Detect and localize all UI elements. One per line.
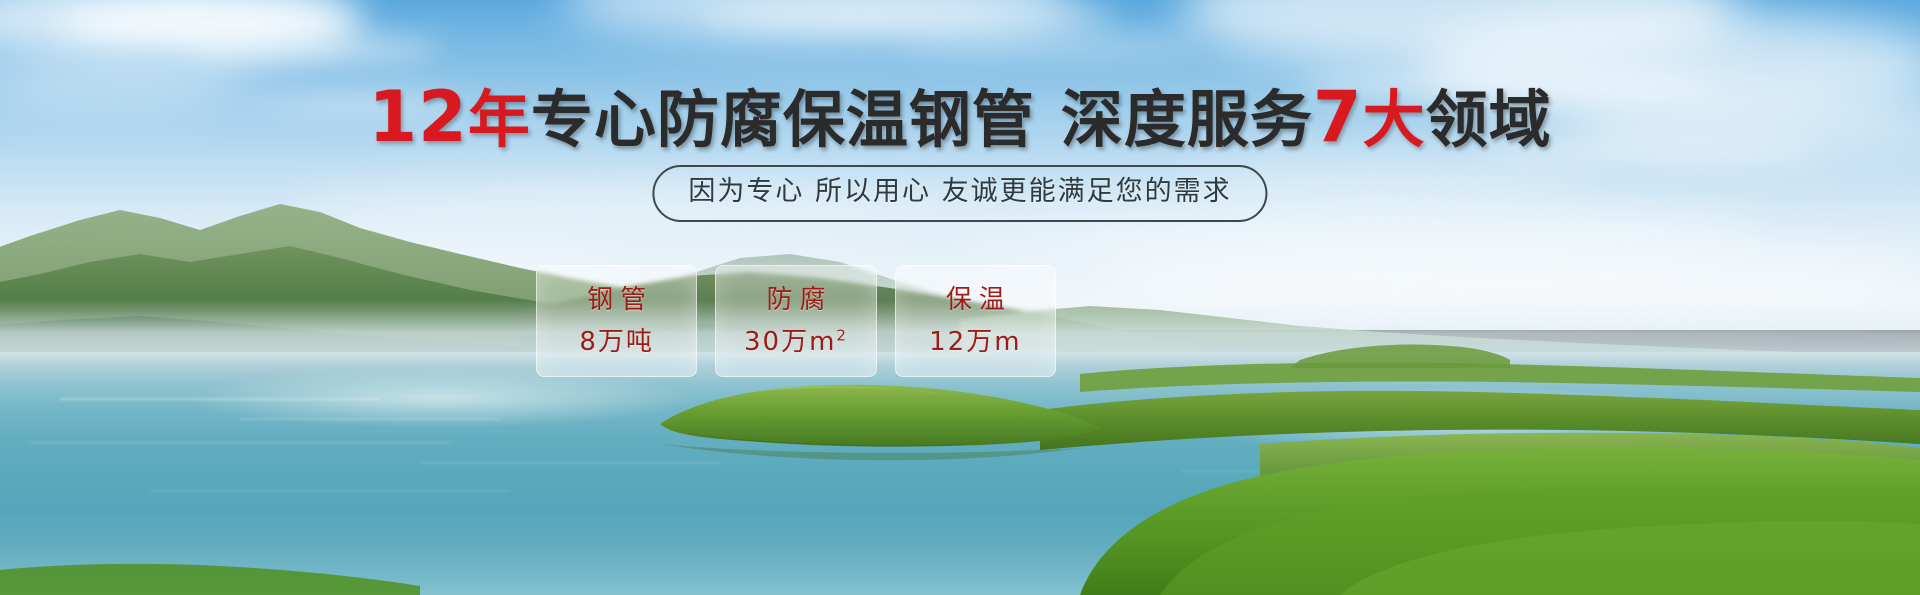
- stat-card-anticorrosion[interactable]: 防腐 30万m2: [715, 265, 876, 377]
- stat-card-insulation[interactable]: 保温 12万m: [895, 265, 1056, 377]
- stat-cards-group: 钢管 8万吨 防腐 30万m2 保温 12万m: [536, 265, 1056, 375]
- stat-card-title: 钢管: [580, 285, 653, 315]
- stat-card-steel-pipe[interactable]: 钢管 8万吨: [536, 265, 697, 377]
- stat-card-value-main: 8万吨: [579, 327, 654, 357]
- headline-fields-unit: 大: [1363, 83, 1426, 156]
- stat-card-value-main: 12万m: [929, 327, 1021, 357]
- headline-fields-number: 7: [1313, 76, 1363, 158]
- stat-card-value: 12万m: [929, 327, 1021, 357]
- headline-years-number: 12: [368, 76, 467, 158]
- lake-water: [0, 352, 1920, 595]
- headline-years-unit: 年: [468, 83, 531, 156]
- headline-main-text: 专心防腐保温钢管: [531, 83, 1035, 156]
- stat-card-value: 8万吨: [579, 327, 654, 357]
- stat-card-value-superscript: 2: [836, 326, 848, 344]
- hero-banner: 12年专心防腐保温钢管深度服务7大领域 因为专心 所以用心 友诚更能满足您的需求…: [0, 0, 1920, 595]
- stat-card-value: 30万m2: [744, 327, 848, 357]
- stat-card-value-main: 30万m: [744, 327, 836, 357]
- headline-service-text: 深度服务: [1061, 83, 1313, 156]
- headline-fields-text: 领域: [1426, 83, 1552, 156]
- subtitle-pill: 因为专心 所以用心 友诚更能满足您的需求: [652, 165, 1267, 222]
- stat-card-title: 保温: [939, 285, 1012, 315]
- page-title: 12年专心防腐保温钢管深度服务7大领域: [0, 86, 1920, 151]
- stat-card-title: 防腐: [759, 285, 832, 315]
